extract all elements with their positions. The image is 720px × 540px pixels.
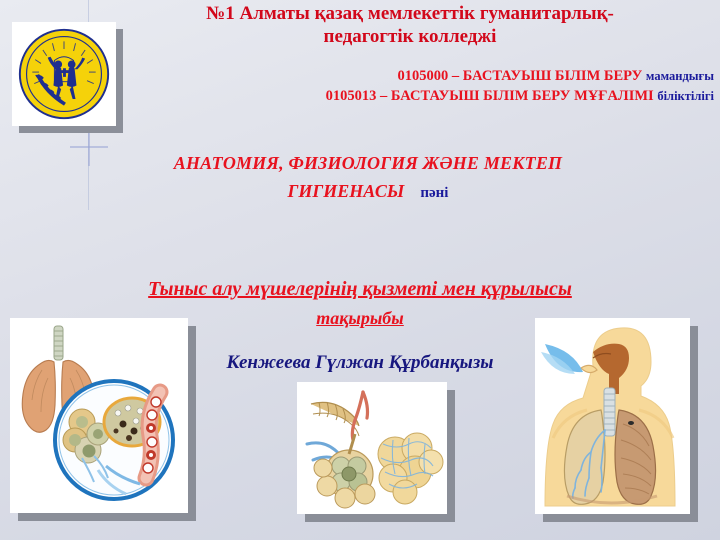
qualification-code: 0105013 – БАСТАУЫШ БІЛІМ БЕРУ МҰҒАЛІМІ	[326, 88, 654, 104]
specialty-code: 0105000 – БАСТАУЫШ БІЛІМ БЕРУ	[397, 68, 642, 84]
subject-line-2: ГИГИЕНАСЫпәні	[78, 176, 658, 208]
lungs-alveoli-capillary-icon	[10, 318, 188, 513]
svg-text:· · · · · · · · ·: · · · · · · · · ·	[55, 35, 72, 39]
specialty-block: 0105000 – БАСТАУЫШ БІЛІМ БЕРУ мамандығы …	[118, 66, 714, 106]
subject-label: пәні	[404, 185, 448, 201]
college-logo: · · · · · · · · ·	[12, 22, 116, 126]
human-respiratory-system-icon	[535, 318, 690, 514]
specialty-line: 0105000 – БАСТАУЫШ БІЛІМ БЕРУ мамандығы	[118, 66, 714, 86]
college-title: №1 Алматы қазақ мемлекеттік гуманитарлық…	[108, 2, 712, 48]
topic-title: Тыныс алу мүшелерінің қызметі мен құрылы…	[40, 275, 680, 303]
college-title-line-2: педагогтік колледжі	[108, 25, 712, 48]
presentation-slide: · · · · · · · · · №1 Алматы қазақ мемлек…	[0, 0, 720, 540]
college-emblem-icon: · · · · · · · · ·	[16, 26, 112, 122]
lungs-alveoli-image	[10, 318, 188, 513]
respiratory-system-image	[535, 318, 690, 514]
subject-line-1: АНАТОМИЯ, ФИЗИОЛОГИЯ ЖӘНЕ МЕКТЕП	[78, 150, 658, 176]
bronchiole-alveoli-image	[297, 382, 447, 514]
specialty-suffix: мамандығы	[646, 69, 714, 83]
image-card	[535, 318, 690, 514]
image-card	[297, 382, 447, 514]
college-title-line-1: №1 Алматы қазақ мемлекеттік гуманитарлық…	[108, 2, 712, 25]
qualification-suffix: біліктілігі	[657, 89, 714, 103]
subject-title: АНАТОМИЯ, ФИЗИОЛОГИЯ ЖӘНЕ МЕКТЕП ГИГИЕНА…	[78, 150, 658, 208]
logo-card: · · · · · · · · ·	[12, 22, 116, 126]
image-card	[10, 318, 188, 513]
bronchiole-alveoli-icon	[297, 382, 447, 514]
qualification-line: 0105013 – БАСТАУЫШ БІЛІМ БЕРУ МҰҒАЛІМІ б…	[118, 86, 714, 106]
subject-line-2-text: ГИГИЕНАСЫ	[288, 181, 405, 201]
